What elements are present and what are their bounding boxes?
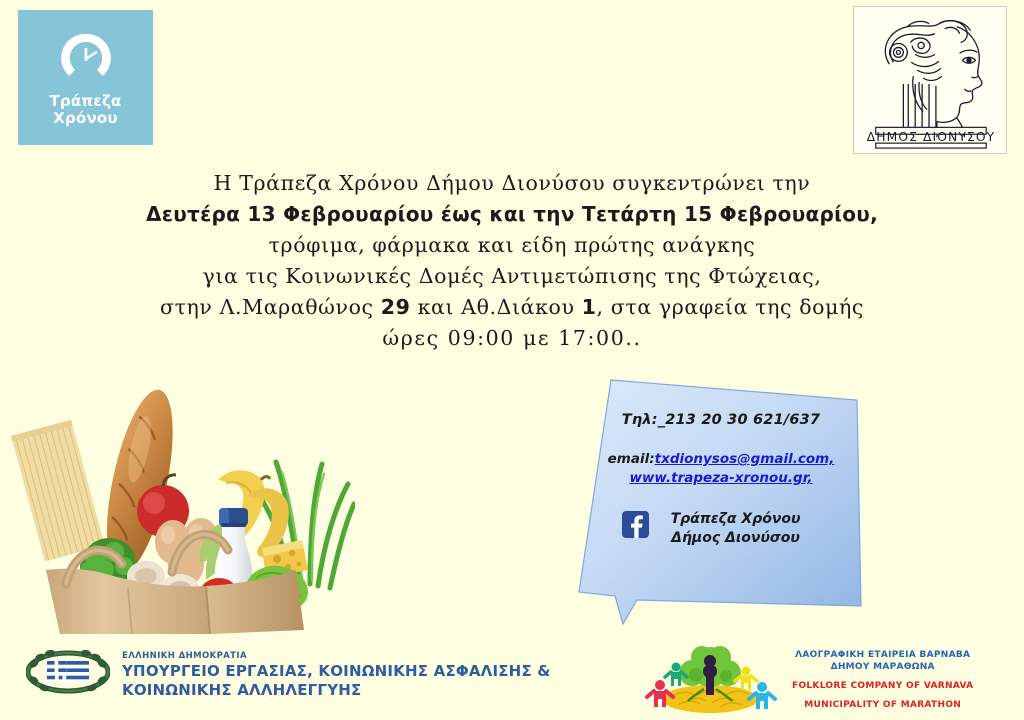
email-row: email:txdionysos@gmail.com, [593,450,849,469]
folklore-greek-line2: ΔΗΜΟΥ ΜΑΡΑΘΩΝΑ [792,661,973,673]
facebook-page-name[interactable]: Τράπεζα Χρόνου Δήμος Διονύσου [651,510,821,548]
callout-content: Τηλ:_213 20 30 621/637 email:txdionysos@… [593,412,849,548]
folklore-english-line1: FOLKLORE COMPANY OF VARNAVA [792,680,973,692]
email-label: email: [608,451,655,467]
announcement-text: Η Τράπεζα Χρόνου Δήμου Διονύσου συγκεντρ… [0,168,1024,354]
folklore-company-logo: ΛΑΟΓΡΑΦΙΚΗ ΕΤΑΙΡΕΙΑ ΒΑΡΝΑΒΑ ΔΗΜΟΥ ΜΑΡΑΘΩ… [636,645,973,715]
dionysos-logo-caption: ΔΗΜΟΣ ΔΙΟΝΥΣΟΥ [867,130,996,144]
folklore-greek-line1: ΛΑΟΓΡΑΦΙΚΗ ΕΤΑΙΡΕΙΑ ΒΑΡΝΑΒΑ [792,649,973,661]
facebook-icon[interactable] [622,511,649,538]
dionysos-municipality-logo: ΔΗΜΟΣ ΔΙΟΝΥΣΟΥ [853,6,1007,154]
website-link[interactable]: www.trapeza-xronou.gr, [629,470,812,486]
hellenic-republic-label: ΕΛΛΗΝΙΚΗ ΔΗΜΟΚΡΑΤΙΑ [122,651,551,662]
announcement-line-5-part-5: , στα γραφεία της δομής [597,295,864,319]
announcement-line-5: στην Λ.Μαραθώνος 29 και Αθ.Διάκου 1, στα… [0,292,1024,323]
ministry-text-block: ΕΛΛΗΝΙΚΗ ΔΗΜΟΚΡΑΤΙΑ ΥΠΟΥΡΓΕΙΟ ΕΡΓΑΣΙΑΣ, … [122,650,551,700]
website-row: www.trapeza-xronou.gr, [593,469,849,488]
announcement-line-3: τρόφιμα, φάρμακα και είδη πρώτης ανάγκης [0,230,1024,261]
ministry-title-line2: ΚΟΙΝΩΝΙΚΗΣ ΑΛΛΗΛΕΓΓΥΗΣ [122,681,551,700]
announcement-line-5-street-number: 29 [381,295,411,319]
clock-icon [55,29,117,87]
grocery-bag-photo [0,372,355,640]
tree-and-children-icon [636,645,784,715]
email-link[interactable]: txdionysos@gmail.com, [655,451,835,467]
announcement-line-2: Δευτέρα 13 Φεβρουαρίου έως και την Τετάρ… [0,199,1024,230]
folklore-text-block: ΛΑΟΓΡΑΦΙΚΗ ΕΤΑΙΡΕΙΑ ΒΑΡΝΑΒΑ ΔΗΜΟΥ ΜΑΡΑΘΩ… [792,649,973,711]
dionysos-head-column-icon: ΔΗΜΟΣ ΔΙΟΝΥΣΟΥ [854,7,1006,153]
timebank-logo: Τράπεζα Χρόνου [18,10,153,145]
announcement-line-4: για τις Κοινωνικές Δομές Αντιμετώπισης τ… [0,261,1024,292]
timebank-label-line2: Χρόνου [53,110,117,127]
ministry-title-line1: ΥΠΟΥΡΓΕΙΟ ΕΡΓΑΣΙΑΣ, ΚΟΙΝΩΝΙΚΗΣ ΑΣΦΑΛΙΣΗΣ… [122,662,551,681]
announcement-line-5-part-3: και Αθ.Διάκου [410,295,581,319]
facebook-row[interactable]: Τράπεζα Χρόνου Δήμος Διονύσου [593,510,849,548]
announcement-line-6-hours: ώρες 09:00 με 17:00.. [0,323,1024,354]
announcement-line-5-part-1: στην Λ.Μαραθώνος [160,295,381,319]
phone-number: Τηλ:_213 20 30 621/637 [593,412,849,428]
timebank-label-line1: Τράπεζα [49,93,121,110]
hellenic-republic-emblem-icon [26,650,110,694]
ministry-of-labour-logo: ΕΛΛΗΝΙΚΗ ΔΗΜΟΚΡΑΤΙΑ ΥΠΟΥΡΓΕΙΟ ΕΡΓΑΣΙΑΣ, … [26,650,551,700]
announcement-line-5-street-number-2: 1 [582,295,597,319]
contact-callout-box: Τηλ:_213 20 30 621/637 email:txdionysos@… [575,368,865,630]
folklore-english-line2: MUNICIPALITY OF MARATHON [792,699,973,711]
announcement-line-1: Η Τράπεζα Χρόνου Δήμου Διονύσου συγκεντρ… [0,168,1024,199]
poster-canvas: Τράπεζα Χρόνου [0,0,1024,720]
